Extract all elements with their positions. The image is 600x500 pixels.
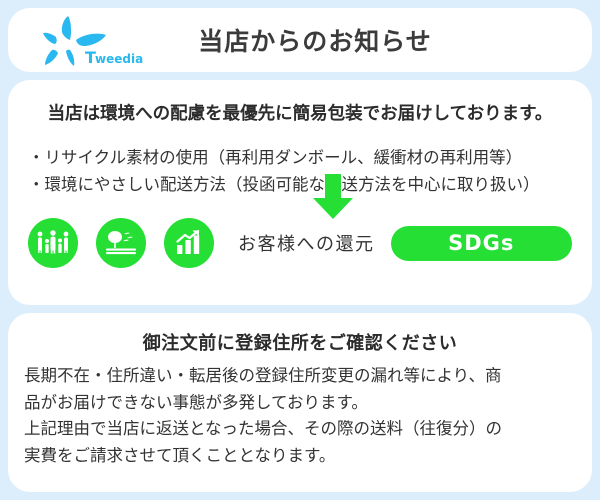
tweedia-pinwheel-logo-icon: T weedia (22, 10, 172, 72)
list-item: ・環境にやさしい配送方法（投函可能な配送方法を中心に取り扱い） (28, 172, 572, 199)
eco-bullet-list: ・リサイクル素材の使用（再利用ダンボール、緩衝材の再利用等） ・環境にやさしい配… (28, 145, 572, 198)
eco-headline: 当店は環境への配慮を最優先に簡易包装でお届けしております。 (28, 100, 572, 125)
notice-line: 実費をご請求させて頂くこととなります。 (24, 443, 576, 470)
tree-nature-icon (96, 218, 146, 268)
notice-line: 上記理由で当店に返送となった場合、その際の送料（往復分）の (24, 416, 576, 443)
sdgs-badge[interactable]: SDGs (391, 226, 573, 261)
notice-title: 御注文前に登録住所をご確認ください (24, 329, 576, 355)
svg-text:weedia: weedia (95, 52, 143, 66)
notice-line: 長期不在・住所違い・転居後の登録住所変更の漏れ等により、商 (24, 363, 576, 390)
notice-line: 品がお届けできない事態が多発しております。 (24, 390, 576, 417)
notice-body: 長期不在・住所違い・転居後の登録住所変更の漏れ等により、商 品がお届けできない事… (24, 363, 576, 470)
list-item: ・リサイクル素材の使用（再利用ダンボール、緩衝材の再利用等） (28, 145, 572, 172)
reward-label: お客様への還元 (238, 230, 375, 256)
eco-packaging-card: 当店は環境への配慮を最優先に簡易包装でお届けしております。 ・リサイクル素材の使… (8, 80, 592, 305)
growth-chart-icon (164, 218, 214, 268)
down-arrow-icon (311, 174, 355, 220)
people-group-icon (28, 218, 78, 268)
eco-icons-row: お客様への還元 SDGs (28, 212, 572, 274)
announcement-page: T weedia 当店からのお知らせ 当店は環境への配慮を最優先に簡易包装でお届… (0, 0, 600, 500)
header-card: T weedia 当店からのお知らせ (8, 8, 592, 72)
address-notice-card: 御注文前に登録住所をご確認ください 長期不在・住所違い・転居後の登録住所変更の漏… (8, 313, 592, 492)
